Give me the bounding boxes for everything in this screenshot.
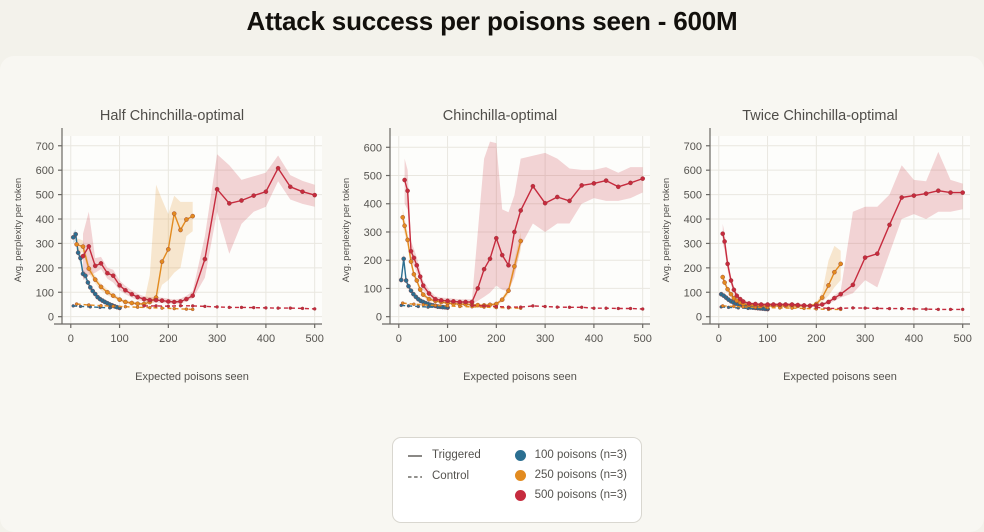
data-point bbox=[191, 308, 194, 311]
data-point bbox=[313, 307, 316, 310]
page-title: Attack success per poisons seen - 600M bbox=[0, 6, 984, 37]
data-point bbox=[937, 308, 940, 311]
data-point bbox=[427, 306, 430, 309]
data-point bbox=[500, 253, 504, 257]
data-point bbox=[172, 212, 176, 216]
y-axis-tick-label: 300 bbox=[364, 227, 382, 239]
data-point bbox=[815, 306, 818, 309]
data-point bbox=[754, 306, 757, 309]
data-point bbox=[100, 304, 103, 307]
legend-label: Triggered bbox=[432, 449, 481, 461]
data-point bbox=[87, 304, 90, 307]
legend-label: 250 poisons (n=3) bbox=[535, 469, 627, 481]
y-axis-tick-label: 0 bbox=[48, 312, 54, 324]
data-point bbox=[412, 272, 416, 276]
data-point bbox=[118, 283, 122, 287]
x-axis-label: Expected poisons seen bbox=[135, 371, 249, 383]
data-point bbox=[421, 293, 425, 297]
data-point bbox=[124, 305, 127, 308]
data-point bbox=[130, 301, 134, 305]
data-point bbox=[617, 307, 620, 310]
data-point bbox=[239, 198, 243, 202]
data-point bbox=[203, 305, 206, 308]
data-point bbox=[820, 296, 824, 300]
data-point bbox=[864, 307, 867, 310]
data-point bbox=[191, 214, 195, 218]
y-axis-tick-label: 500 bbox=[36, 190, 54, 202]
data-point bbox=[471, 304, 474, 307]
y-axis-tick-label: 0 bbox=[376, 312, 382, 324]
data-point bbox=[81, 254, 85, 258]
data-point bbox=[729, 292, 733, 296]
data-point bbox=[136, 295, 140, 299]
data-point bbox=[723, 280, 727, 284]
orange-dot-icon bbox=[515, 470, 526, 481]
data-point bbox=[863, 256, 867, 260]
data-point bbox=[592, 181, 596, 185]
y-axis-tick-label: 700 bbox=[36, 141, 54, 153]
data-point bbox=[160, 260, 164, 264]
data-point bbox=[839, 262, 843, 266]
data-point bbox=[470, 300, 474, 304]
data-point bbox=[79, 305, 82, 308]
y-axis-tick-label: 100 bbox=[36, 287, 54, 299]
data-point bbox=[427, 291, 431, 295]
data-point bbox=[771, 302, 775, 306]
data-point bbox=[721, 304, 724, 307]
data-point bbox=[912, 194, 916, 198]
data-point bbox=[240, 306, 243, 309]
data-point bbox=[568, 306, 571, 309]
data-point bbox=[72, 304, 75, 307]
data-point bbox=[142, 297, 146, 301]
data-point bbox=[406, 189, 410, 193]
data-point bbox=[409, 260, 413, 264]
data-point bbox=[519, 208, 523, 212]
data-point bbox=[111, 274, 115, 278]
legend-label: Control bbox=[432, 470, 469, 482]
data-point bbox=[826, 300, 830, 304]
data-point bbox=[403, 224, 407, 228]
data-point bbox=[148, 306, 151, 309]
legend-item-control[interactable]: Control bbox=[407, 470, 505, 482]
data-point bbox=[488, 257, 492, 261]
data-point bbox=[887, 223, 891, 227]
data-point bbox=[427, 297, 431, 301]
data-point bbox=[86, 280, 90, 284]
data-point bbox=[155, 304, 158, 307]
data-point bbox=[832, 270, 836, 274]
data-point bbox=[412, 303, 415, 306]
data-point bbox=[87, 267, 91, 271]
data-point bbox=[628, 181, 632, 185]
data-point bbox=[851, 283, 855, 287]
data-point bbox=[826, 283, 830, 287]
data-point bbox=[184, 217, 188, 221]
data-point bbox=[784, 302, 788, 306]
x-axis-tick-label: 300 bbox=[536, 333, 554, 345]
data-point bbox=[741, 299, 745, 303]
data-point bbox=[721, 232, 725, 236]
data-point bbox=[401, 215, 405, 219]
y-axis-label: Avg. perplexity per token bbox=[661, 178, 672, 282]
data-point bbox=[641, 308, 644, 311]
data-point bbox=[136, 306, 139, 309]
data-point bbox=[123, 300, 127, 304]
data-point bbox=[418, 275, 422, 279]
y-axis-tick-label: 400 bbox=[36, 214, 54, 226]
data-point bbox=[726, 287, 730, 291]
legend-label: 100 poisons (n=3) bbox=[535, 449, 627, 461]
plot-area: 01002003004005006007000100200300400500Ex… bbox=[8, 56, 336, 386]
legend-item-series_250[interactable]: 250 poisons (n=3) bbox=[515, 469, 627, 481]
data-point bbox=[876, 307, 879, 310]
data-point bbox=[791, 307, 794, 310]
data-point bbox=[264, 306, 267, 309]
data-point bbox=[74, 232, 78, 236]
data-point bbox=[875, 252, 879, 256]
data-point bbox=[439, 298, 443, 302]
data-point bbox=[759, 302, 763, 306]
data-point bbox=[726, 262, 730, 266]
data-point bbox=[161, 307, 164, 310]
data-point bbox=[75, 303, 78, 306]
y-axis-tick-label: 500 bbox=[684, 190, 702, 202]
data-point bbox=[476, 286, 480, 290]
data-point bbox=[99, 261, 103, 265]
data-point bbox=[924, 192, 928, 196]
data-point bbox=[446, 299, 450, 303]
data-point bbox=[839, 292, 843, 296]
data-point bbox=[948, 191, 952, 195]
x-axis-tick-label: 200 bbox=[159, 333, 177, 345]
data-point bbox=[185, 308, 188, 311]
data-point bbox=[75, 242, 79, 246]
data-point bbox=[252, 306, 255, 309]
data-point bbox=[399, 278, 403, 282]
data-point bbox=[434, 304, 437, 307]
data-point bbox=[605, 307, 608, 310]
data-point bbox=[105, 271, 109, 275]
solid-line-icon bbox=[407, 450, 423, 461]
data-point bbox=[99, 285, 103, 289]
chart-panel-chinchilla-optimal: Chinchilla-optimal 010020030040050060001… bbox=[336, 56, 664, 386]
y-axis-tick-label: 500 bbox=[364, 171, 382, 183]
data-point bbox=[418, 288, 422, 292]
data-point bbox=[111, 294, 115, 298]
data-point bbox=[154, 298, 158, 302]
data-point bbox=[949, 308, 952, 311]
data-point bbox=[179, 304, 182, 307]
y-axis-tick-label: 600 bbox=[36, 165, 54, 177]
data-point bbox=[912, 307, 915, 310]
data-point bbox=[482, 267, 486, 271]
data-point bbox=[203, 257, 207, 261]
x-axis-tick-label: 0 bbox=[68, 333, 74, 345]
x-axis-tick-label: 300 bbox=[208, 333, 226, 345]
data-point bbox=[580, 306, 583, 309]
data-point bbox=[495, 305, 498, 308]
chart-panels: Half Chinchilla-optimal 0100200300400500… bbox=[0, 56, 984, 386]
x-axis-tick-label: 500 bbox=[634, 333, 652, 345]
plot-area: 01002003004005006000100200300400500Expec… bbox=[336, 56, 664, 386]
chart-legend: TriggeredControl 100 poisons (n=3)250 po… bbox=[392, 437, 642, 523]
data-point bbox=[458, 305, 461, 308]
legend-item-series_500[interactable]: 500 poisons (n=3) bbox=[515, 489, 627, 501]
x-axis-tick-label: 0 bbox=[716, 333, 722, 345]
data-point bbox=[961, 308, 964, 311]
data-point bbox=[936, 189, 940, 193]
data-point bbox=[567, 199, 571, 203]
x-axis-tick-label: 100 bbox=[110, 333, 128, 345]
data-point bbox=[407, 304, 410, 307]
data-point bbox=[406, 238, 410, 242]
data-point bbox=[604, 179, 608, 183]
x-axis-tick-label: 500 bbox=[306, 333, 324, 345]
data-point bbox=[264, 190, 268, 194]
data-point bbox=[735, 294, 739, 298]
data-point bbox=[178, 299, 182, 303]
data-point bbox=[451, 299, 455, 303]
data-point bbox=[778, 302, 782, 306]
data-point bbox=[415, 278, 419, 282]
data-point bbox=[556, 306, 559, 309]
x-axis-label: Expected poisons seen bbox=[783, 371, 897, 383]
data-point bbox=[616, 185, 620, 189]
data-point bbox=[506, 263, 510, 267]
x-axis-tick-label: 100 bbox=[438, 333, 456, 345]
data-point bbox=[148, 298, 152, 302]
data-point bbox=[500, 298, 504, 302]
data-point bbox=[778, 306, 781, 309]
y-axis-label: Avg. perplexity per token bbox=[13, 178, 24, 282]
y-axis-label: Avg. perplexity per token bbox=[341, 178, 352, 282]
data-point bbox=[796, 303, 800, 307]
data-point bbox=[216, 305, 219, 308]
data-point bbox=[506, 289, 510, 293]
data-point bbox=[417, 305, 420, 308]
data-point bbox=[160, 299, 164, 303]
chart-panel-twice-chinchilla-optimal: Twice Chinchilla-optimal 010020030040050… bbox=[656, 56, 984, 386]
data-point bbox=[166, 299, 170, 303]
blue-dot-icon bbox=[515, 450, 526, 461]
data-point bbox=[543, 201, 547, 205]
data-point bbox=[123, 288, 127, 292]
chart-panel-half-chinchilla-optimal: Half Chinchilla-optimal 0100200300400500… bbox=[8, 56, 336, 386]
data-point bbox=[742, 305, 745, 308]
data-point bbox=[900, 195, 904, 199]
data-point bbox=[289, 307, 292, 310]
x-axis-tick-label: 500 bbox=[954, 333, 972, 345]
data-point bbox=[277, 307, 280, 310]
data-point bbox=[925, 308, 928, 311]
x-axis-tick-label: 100 bbox=[758, 333, 776, 345]
data-point bbox=[276, 166, 280, 170]
data-point bbox=[888, 307, 891, 310]
data-point bbox=[494, 236, 498, 240]
x-axis-label: Expected poisons seen bbox=[463, 371, 577, 383]
legend-item-series_100[interactable]: 100 poisons (n=3) bbox=[515, 449, 627, 461]
data-point bbox=[93, 264, 97, 268]
data-point bbox=[832, 296, 836, 300]
data-point bbox=[555, 195, 559, 199]
data-point bbox=[130, 292, 134, 296]
data-point bbox=[458, 300, 462, 304]
data-point bbox=[592, 307, 595, 310]
x-axis-tick-label: 400 bbox=[585, 333, 603, 345]
data-point bbox=[252, 194, 256, 198]
plot-area: 01002003004005006007000100200300400500Ex… bbox=[656, 56, 984, 386]
data-point bbox=[403, 178, 407, 182]
y-axis-tick-label: 400 bbox=[364, 199, 382, 211]
data-point bbox=[802, 303, 806, 307]
data-point bbox=[118, 307, 121, 310]
data-point bbox=[300, 190, 304, 194]
data-point bbox=[76, 251, 80, 255]
data-point bbox=[409, 249, 413, 253]
data-point bbox=[446, 304, 449, 307]
legend-series-column: 100 poisons (n=3)250 poisons (n=3)500 po… bbox=[515, 449, 627, 501]
data-point bbox=[313, 193, 317, 197]
x-axis-tick-label: 400 bbox=[905, 333, 923, 345]
chart-page: Attack success per poisons seen - 600M H… bbox=[0, 0, 984, 532]
data-point bbox=[820, 302, 824, 306]
data-point bbox=[721, 275, 725, 279]
data-point bbox=[406, 284, 410, 288]
data-point bbox=[544, 305, 547, 308]
data-point bbox=[83, 274, 87, 278]
data-point bbox=[178, 228, 182, 232]
y-axis-tick-label: 100 bbox=[364, 283, 382, 295]
x-axis-tick-label: 200 bbox=[487, 333, 505, 345]
y-axis-tick-label: 600 bbox=[364, 142, 382, 154]
y-axis-tick-label: 600 bbox=[684, 165, 702, 177]
data-point bbox=[88, 285, 92, 289]
x-axis-tick-label: 300 bbox=[856, 333, 874, 345]
y-axis-tick-label: 200 bbox=[684, 263, 702, 275]
data-point bbox=[732, 305, 735, 308]
data-point bbox=[512, 264, 516, 268]
data-point bbox=[808, 304, 812, 308]
data-point bbox=[753, 302, 757, 306]
data-point bbox=[191, 294, 195, 298]
legend-label: 500 poisons (n=3) bbox=[535, 489, 627, 501]
dashed-line-icon bbox=[407, 471, 423, 482]
y-axis-tick-label: 400 bbox=[684, 214, 702, 226]
data-point bbox=[118, 298, 122, 302]
legend-style-column: TriggeredControl bbox=[407, 449, 505, 501]
y-axis-tick-label: 200 bbox=[364, 255, 382, 267]
data-point bbox=[415, 263, 419, 267]
data-point bbox=[173, 307, 176, 310]
legend-item-triggered[interactable]: Triggered bbox=[407, 449, 505, 461]
data-point bbox=[191, 304, 194, 307]
data-point bbox=[227, 201, 231, 205]
data-point bbox=[288, 185, 292, 189]
data-point bbox=[81, 245, 85, 249]
data-point bbox=[166, 247, 170, 251]
data-point bbox=[766, 302, 770, 306]
data-point bbox=[404, 278, 408, 282]
x-axis-tick-label: 200 bbox=[807, 333, 825, 345]
x-axis-tick-label: 400 bbox=[257, 333, 275, 345]
data-point bbox=[900, 307, 903, 310]
data-point bbox=[105, 290, 109, 294]
data-point bbox=[531, 304, 534, 307]
data-point bbox=[402, 257, 406, 261]
data-point bbox=[961, 191, 965, 195]
y-axis-tick-label: 200 bbox=[36, 263, 54, 275]
data-point bbox=[136, 302, 140, 306]
y-axis-tick-label: 100 bbox=[684, 287, 702, 299]
data-point bbox=[729, 278, 733, 282]
data-point bbox=[87, 244, 91, 248]
y-axis-tick-label: 700 bbox=[684, 141, 702, 153]
data-point bbox=[228, 306, 231, 309]
data-point bbox=[112, 305, 115, 308]
x-axis-tick-label: 0 bbox=[396, 333, 402, 345]
data-point bbox=[422, 303, 425, 306]
data-point bbox=[301, 307, 304, 310]
data-point bbox=[827, 307, 830, 310]
data-point bbox=[519, 239, 523, 243]
data-point bbox=[629, 307, 632, 310]
data-point bbox=[531, 184, 535, 188]
data-point bbox=[401, 302, 404, 305]
data-point bbox=[732, 288, 736, 292]
data-point bbox=[507, 306, 510, 309]
data-point bbox=[433, 297, 437, 301]
red-dot-icon bbox=[515, 490, 526, 501]
data-point bbox=[464, 300, 468, 304]
data-point bbox=[790, 302, 794, 306]
data-point bbox=[723, 239, 727, 243]
y-axis-tick-label: 0 bbox=[696, 312, 702, 324]
data-point bbox=[747, 301, 751, 305]
data-point bbox=[512, 230, 516, 234]
data-point bbox=[215, 187, 219, 191]
data-point bbox=[93, 278, 97, 282]
y-axis-tick-label: 300 bbox=[684, 238, 702, 250]
data-point bbox=[519, 306, 522, 309]
data-point bbox=[167, 305, 170, 308]
data-point bbox=[184, 297, 188, 301]
data-point bbox=[641, 177, 645, 181]
data-point bbox=[727, 306, 730, 309]
data-point bbox=[839, 307, 842, 310]
data-point bbox=[580, 183, 584, 187]
data-point bbox=[421, 284, 425, 288]
data-point bbox=[108, 306, 111, 309]
data-point bbox=[483, 304, 486, 307]
data-point bbox=[143, 304, 146, 307]
data-point bbox=[172, 300, 176, 304]
data-point bbox=[412, 256, 416, 260]
data-point bbox=[851, 306, 854, 309]
y-axis-tick-label: 300 bbox=[36, 238, 54, 250]
